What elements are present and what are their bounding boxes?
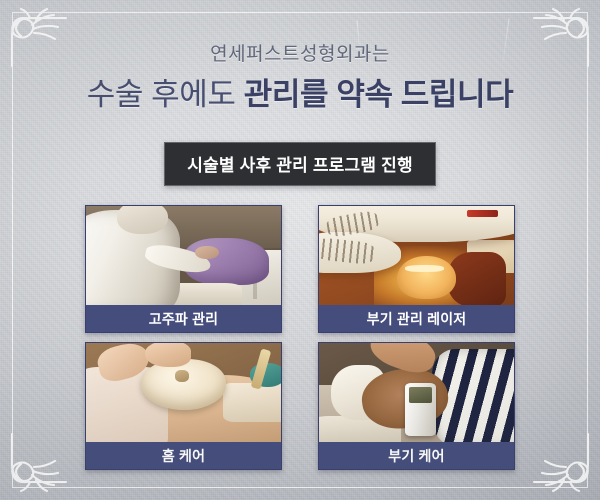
swelling-care-laser-photo — [319, 206, 514, 305]
headline-segment-1: 수술 후에도 — [87, 77, 244, 112]
treatment-card-swelling-laser[interactable]: 부기 관리 레이저 — [318, 205, 515, 333]
headline-segment-3: 약속 드립니다 — [336, 77, 513, 112]
clinic-name-eyebrow: 연세퍼스트성형외과는 — [0, 44, 600, 67]
corner-flourish-ornament-bottom-left — [6, 432, 78, 494]
treatment-card-label: 고주파 관리 — [86, 305, 281, 332]
treatment-card-swelling-care[interactable]: 부기 케어 — [318, 342, 515, 470]
promotional-poster: 연세퍼스트성형외과는 수술 후에도 관리를 약속 드립니다 시술별 사후 관리 … — [0, 0, 600, 500]
treatment-card-radiofrequency[interactable]: 고주파 관리 — [85, 205, 282, 333]
treatment-card-home-care[interactable]: 홈 케어 — [85, 342, 282, 470]
headline-block: 연세퍼스트성형외과는 수술 후에도 관리를 약속 드립니다 — [0, 44, 600, 115]
photo-scene — [319, 206, 514, 305]
corner-flourish-ornament-bottom-right — [522, 432, 594, 494]
headline-segment-2: 관리를 — [244, 77, 337, 112]
treatment-card-label: 홈 케어 — [86, 442, 281, 469]
radiofrequency-treatment-photo — [86, 206, 281, 305]
badge-container: 시술별 사후 관리 프로그램 진행 — [0, 142, 600, 186]
treatment-card-label: 부기 케어 — [319, 442, 514, 469]
program-badge: 시술별 사후 관리 프로그램 진행 — [164, 142, 436, 186]
page-title: 수술 후에도 관리를 약속 드립니다 — [0, 76, 600, 115]
photo-scene — [86, 343, 281, 442]
photo-scene — [86, 206, 281, 305]
photo-scene — [319, 343, 514, 442]
swelling-care-photo — [319, 343, 514, 442]
treatment-card-label: 부기 관리 레이저 — [319, 305, 514, 332]
treatment-card-grid: 고주파 관리 부기 관리 레이저 홈 케어 — [85, 205, 515, 470]
home-care-photo — [86, 343, 281, 442]
